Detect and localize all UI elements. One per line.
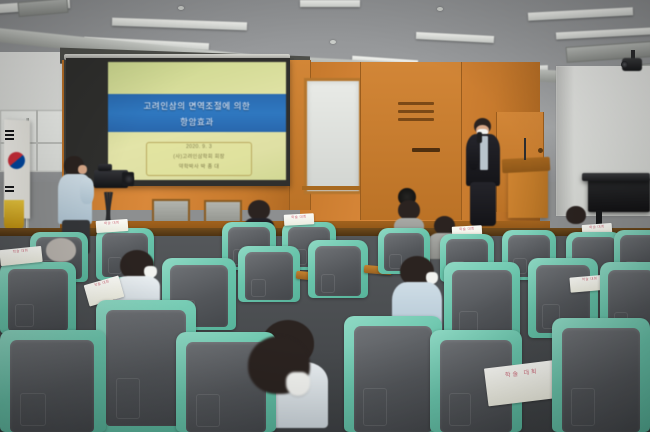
microphone-icon	[477, 132, 482, 143]
handout-text: 학술 대회	[96, 219, 128, 226]
lectern	[508, 166, 548, 218]
lectern-mic-stem	[524, 138, 526, 160]
lectern-top	[502, 157, 551, 173]
slide-title-band: 고려인삼의 면역조절에 의한 항암효과	[108, 94, 286, 132]
ceiling-speaker-dot	[437, 7, 443, 11]
operator-face	[78, 165, 87, 174]
handout-booklet[interactable]: 학술 대회	[284, 213, 315, 226]
piano-lid	[582, 173, 650, 181]
whiteboard	[304, 78, 362, 194]
slide-title-line2: 항암효과	[108, 111, 286, 128]
right-wall-shadow	[556, 66, 574, 216]
trigram-icon	[5, 190, 14, 192]
slide-credits-box: 2020. 9. 3 (사)고려인삼학회 회장 약학박사 박 종 대	[146, 142, 252, 176]
wall-slat	[398, 102, 434, 105]
attendee-head	[566, 206, 586, 224]
ceiling-light-fixture	[300, 0, 360, 7]
attendee-head	[248, 200, 270, 220]
camera-viewfinder	[98, 164, 112, 171]
lecture-hall-photo: 고려인삼의 면역조절에 의한 항암효과 2020. 9. 3 (사)고려인삼학회…	[0, 0, 650, 432]
left-wall-mullion	[36, 110, 38, 172]
door-knob-icon	[538, 148, 543, 153]
slide-presenter: 약학박사 박 종 대	[147, 163, 251, 173]
seat-cushion	[354, 326, 432, 432]
attendee-mask	[286, 372, 310, 396]
flag-fringe	[4, 200, 24, 230]
wall-slat	[412, 148, 440, 152]
presentation-slide: 고려인삼의 면역조절에 의한 항암효과 2020. 9. 3 (사)고려인삼학회…	[108, 62, 286, 180]
trigram-icon	[5, 130, 14, 132]
slide-organization: (사)고려인삼학회 회장	[147, 153, 251, 163]
attendee-head	[46, 238, 76, 262]
seat-cushion	[315, 246, 361, 296]
presenter-arm	[468, 140, 479, 170]
trigram-icon	[5, 134, 14, 136]
seat-cushion	[562, 328, 640, 432]
slide-title-line1: 고려인삼의 면역조절에 의한	[108, 94, 286, 111]
seat-cushion	[245, 252, 293, 300]
whiteboard-tray	[302, 186, 360, 190]
operator-arm	[80, 178, 94, 204]
trigram-icon	[5, 138, 14, 140]
seat-cushion	[10, 340, 94, 432]
seat-cushion	[8, 269, 68, 331]
piano	[588, 178, 650, 212]
handout-text: 학술 대회	[582, 223, 612, 230]
wall-slat	[398, 118, 434, 121]
wall-slat	[398, 110, 434, 113]
handout-booklet[interactable]: 학술 대회	[96, 219, 129, 233]
ceiling-speaker-dot	[178, 6, 184, 10]
ceiling-speaker-dot	[330, 40, 336, 44]
seat-cushion	[106, 310, 186, 426]
presenter-legs	[470, 182, 496, 226]
camera-lens-icon	[124, 174, 134, 184]
attendee-head	[398, 200, 420, 220]
trigram-icon	[5, 186, 14, 188]
cctv-lens-icon	[621, 61, 628, 68]
handout-text: 학술 대회	[452, 225, 482, 232]
handout-text: 학술 대회	[284, 213, 314, 220]
slide-date: 2020. 9. 3	[147, 143, 251, 153]
